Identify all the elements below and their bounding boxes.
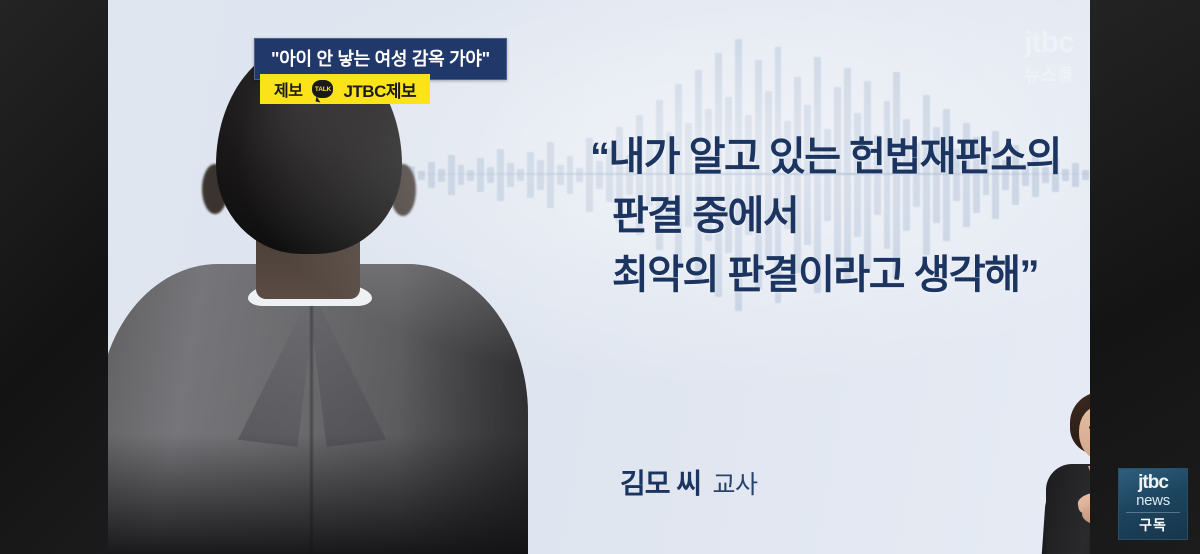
jtbc-logo-watermark: jtbc — [1024, 28, 1074, 58]
jtbc-news-subscribe-badge[interactable]: jtbc news 구독 — [1118, 468, 1188, 540]
subscribe-label: 구독 — [1139, 515, 1167, 535]
broadcast-video-frame: "아이 안 낳는 여성 감옥 가야" 제보 TALK JTBC제보 “내가 알고… — [108, 0, 1090, 554]
quote-line-3: 최악의 판결이라고 생각해” — [590, 246, 1061, 305]
badge-divider — [1126, 512, 1180, 513]
pillarbox-left — [0, 0, 108, 554]
quote-block: “내가 알고 있는 헌법재판소의 판결 중에서 최악의 판결이라고 생각해” — [590, 128, 1061, 304]
program-name-watermark: 뉴스룸 — [1024, 61, 1074, 86]
speaker-name: 김모 씨 — [620, 468, 701, 499]
quote-line-1: “내가 알고 있는 헌법재판소의 — [590, 128, 1061, 187]
channel-watermark: jtbc 뉴스룸 — [1024, 28, 1074, 86]
news-label: news — [1136, 493, 1170, 510]
tip-label: 제보 — [274, 77, 302, 101]
tip-brand-label: JTBC제보 — [343, 77, 416, 102]
kakaotalk-icon: TALK — [312, 80, 333, 98]
sign-language-interpreter — [1030, 384, 1090, 554]
tip-line-bar: 제보 TALK JTBC제보 — [260, 74, 430, 104]
jacket-lower-shadow — [108, 434, 528, 554]
speaker-attribution: 김모 씨 교사 — [620, 462, 758, 502]
jtbc-logo: jtbc — [1138, 473, 1168, 492]
interviewee-silhouette — [108, 34, 528, 554]
kakaotalk-icon-text: TALK — [315, 86, 331, 93]
video-player-screen: "아이 안 낳는 여성 감옥 가야" 제보 TALK JTBC제보 “내가 알고… — [0, 0, 1200, 554]
quote-line-2: 판결 중에서 — [590, 187, 1061, 246]
speaker-role: 교사 — [713, 471, 758, 499]
